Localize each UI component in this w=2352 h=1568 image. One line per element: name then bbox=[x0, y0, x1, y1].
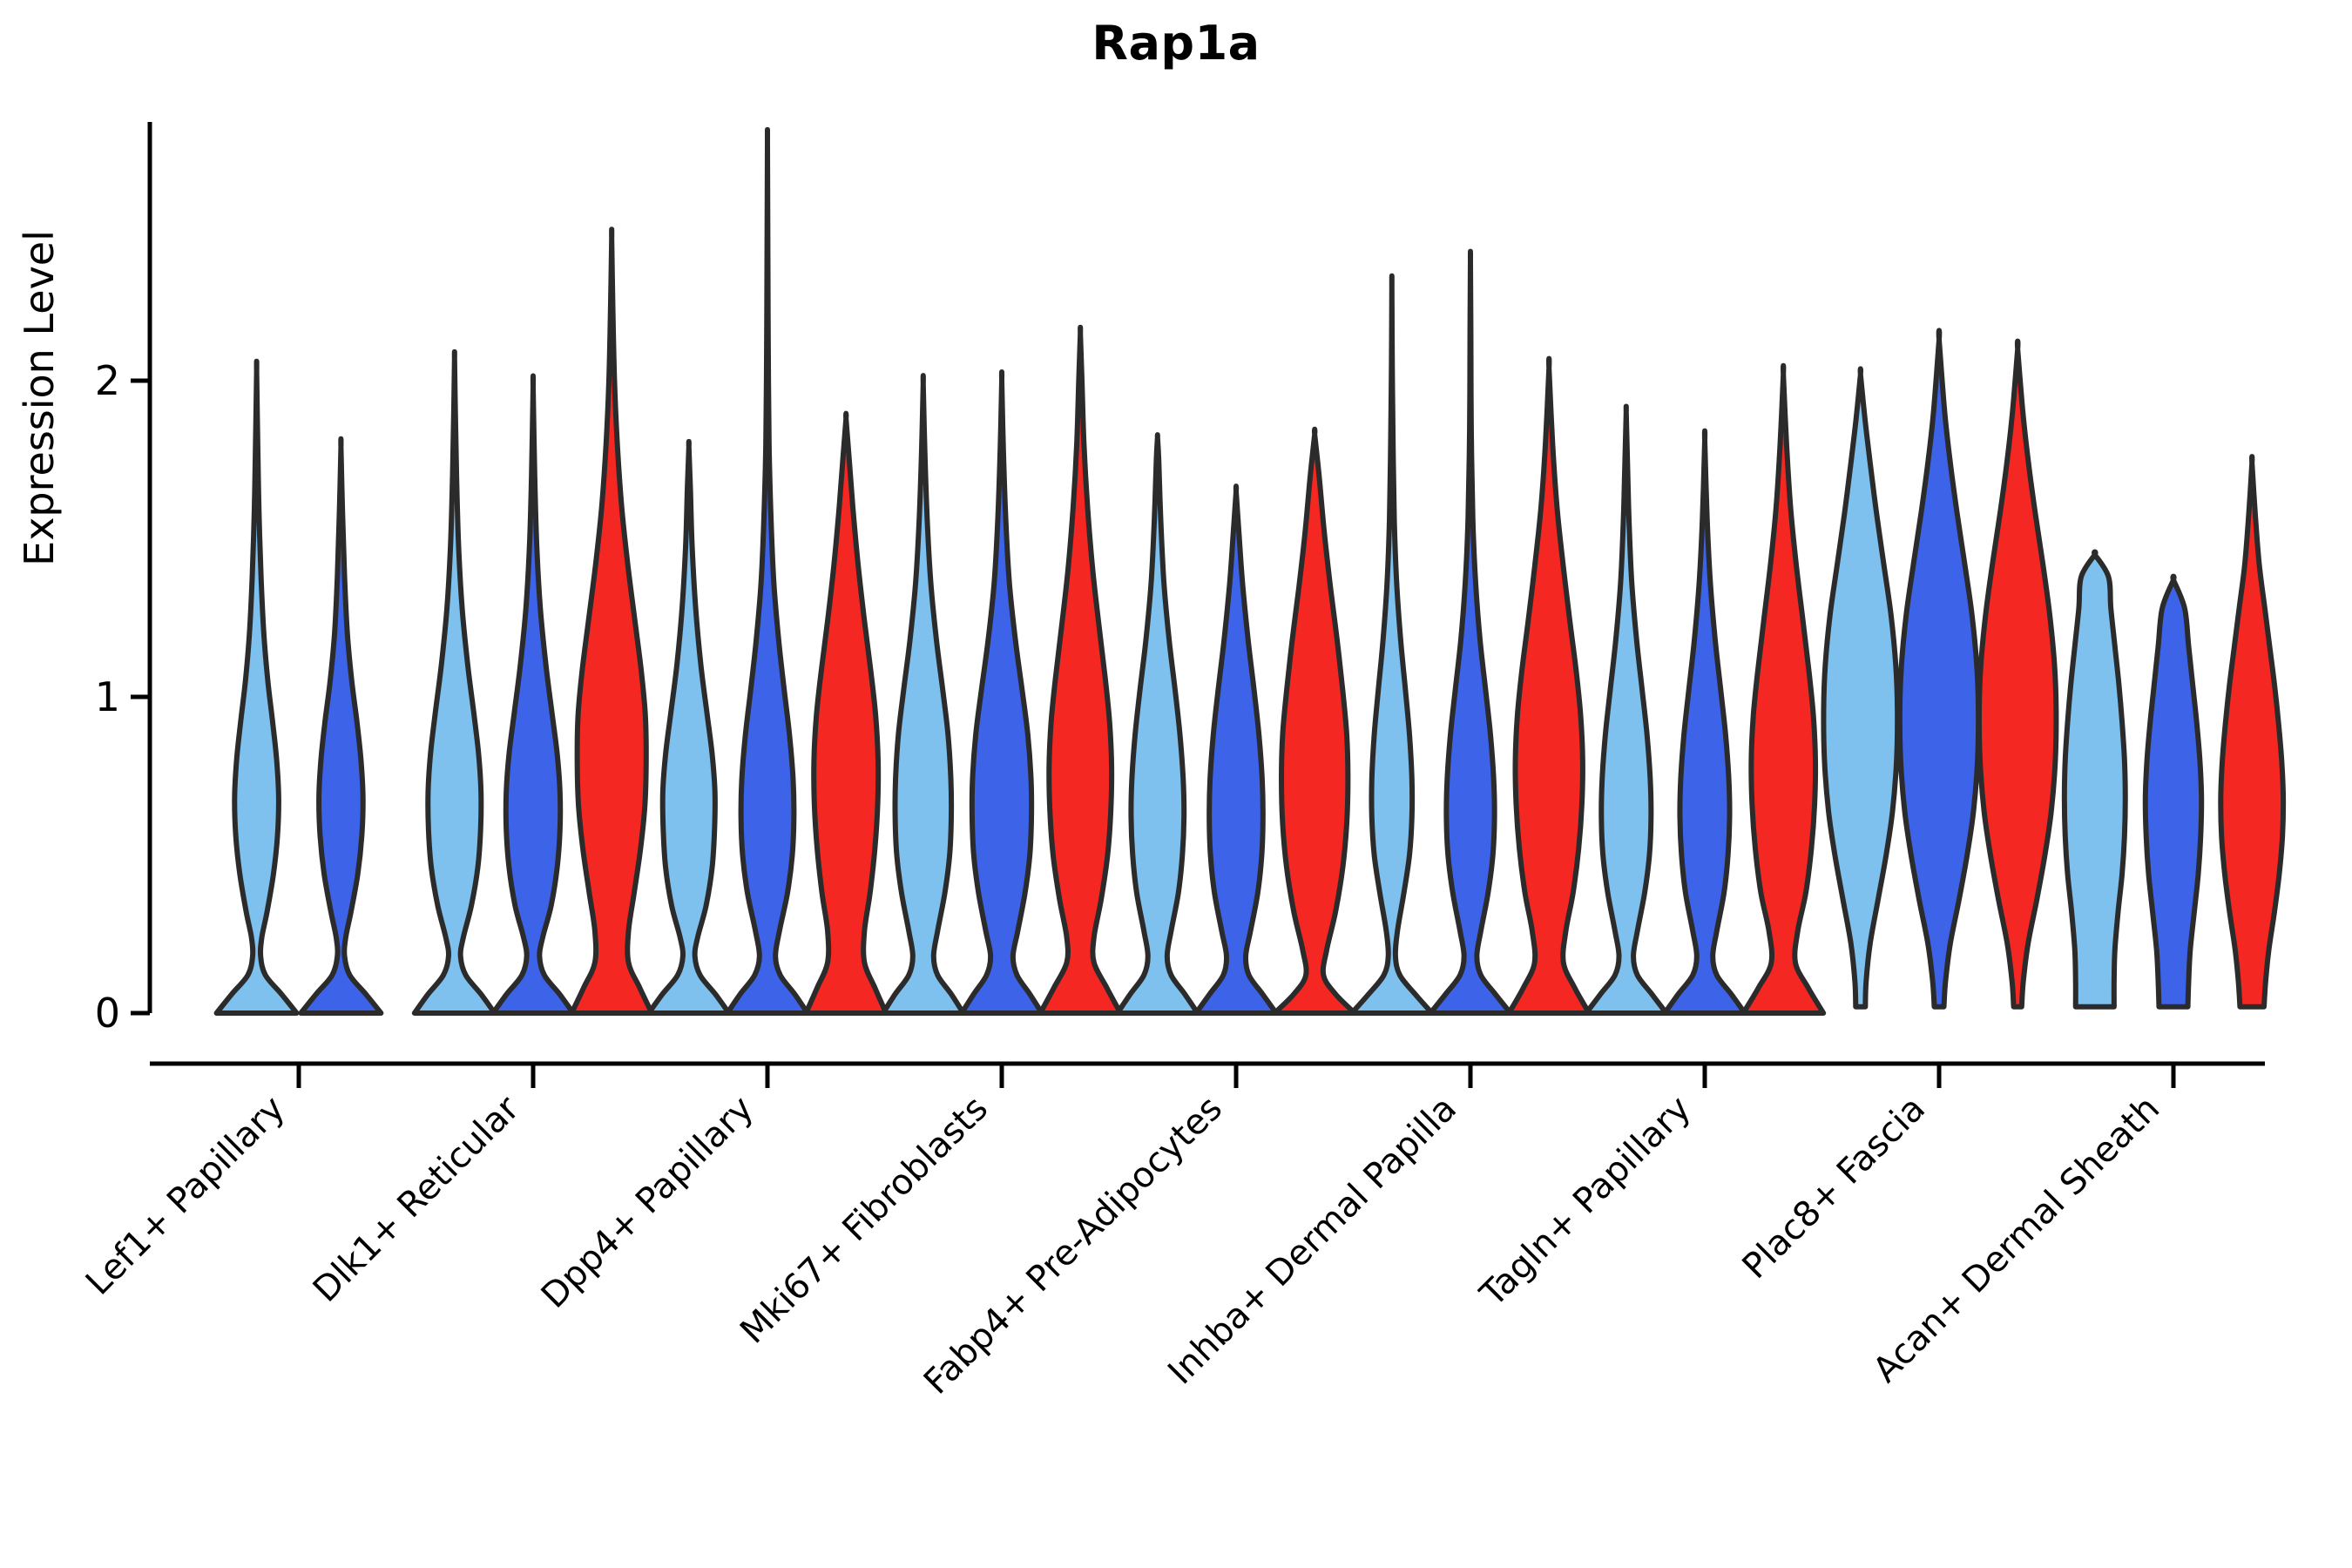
x-tick-label: Mki67+ Fibroblasts bbox=[733, 1089, 996, 1352]
violin-shape bbox=[1900, 330, 1978, 1006]
violin-shape bbox=[415, 352, 495, 1013]
y-axis: 012 bbox=[95, 122, 150, 1037]
x-tick-label: Tagln+ Papillary bbox=[1472, 1089, 1699, 1315]
violin-shape bbox=[962, 372, 1042, 1013]
x-tick-label: Dlk1+ Reticular bbox=[306, 1088, 528, 1310]
violin-shape bbox=[1665, 431, 1745, 1013]
x-tick-label: Lef1+ Papillary bbox=[78, 1089, 293, 1303]
violin-shape bbox=[2146, 577, 2201, 1007]
x-tick-label: Dpp4+ Papillary bbox=[534, 1089, 761, 1316]
violin-shape bbox=[1118, 435, 1198, 1013]
violin-shape bbox=[1040, 328, 1120, 1013]
y-tick-label: 1 bbox=[95, 673, 120, 720]
violin-shape bbox=[1823, 368, 1897, 1006]
x-tick-label: Plac8+ Fascia bbox=[1735, 1089, 1934, 1288]
violin-shape bbox=[649, 442, 729, 1013]
y-tick-label: 2 bbox=[95, 357, 120, 404]
violin-shape bbox=[1274, 429, 1355, 1013]
violin-shape bbox=[2065, 551, 2126, 1006]
violin-shape bbox=[1430, 252, 1511, 1013]
violin-shape bbox=[301, 439, 381, 1013]
y-tick-label: 0 bbox=[95, 990, 120, 1037]
violin-shape bbox=[1743, 366, 1823, 1013]
violin-shape bbox=[493, 376, 573, 1013]
violin-shape bbox=[2220, 456, 2283, 1007]
violin-plot-figure: Rap1a Expression Level 012 Lef1+ Papilla… bbox=[0, 0, 2352, 1568]
violin-shape bbox=[883, 375, 963, 1013]
violin-shape bbox=[1979, 341, 2056, 1007]
chart-canvas: 012 Lef1+ PapillaryDlk1+ ReticularDpp4+ … bbox=[0, 0, 2352, 1568]
violin-shape bbox=[1586, 406, 1666, 1013]
violin-series-layer bbox=[217, 130, 2284, 1013]
violin-shape bbox=[1509, 359, 1589, 1013]
violin-shape bbox=[1352, 276, 1432, 1013]
x-tick-labels: Lef1+ PapillaryDlk1+ ReticularDpp4+ Papi… bbox=[78, 1088, 2167, 1402]
violin-shape bbox=[727, 130, 808, 1013]
violin-shape bbox=[1196, 486, 1276, 1013]
x-axis bbox=[150, 1064, 2265, 1088]
violin-shape bbox=[806, 414, 886, 1013]
violin-shape bbox=[217, 362, 297, 1013]
violin-shape bbox=[571, 229, 652, 1013]
